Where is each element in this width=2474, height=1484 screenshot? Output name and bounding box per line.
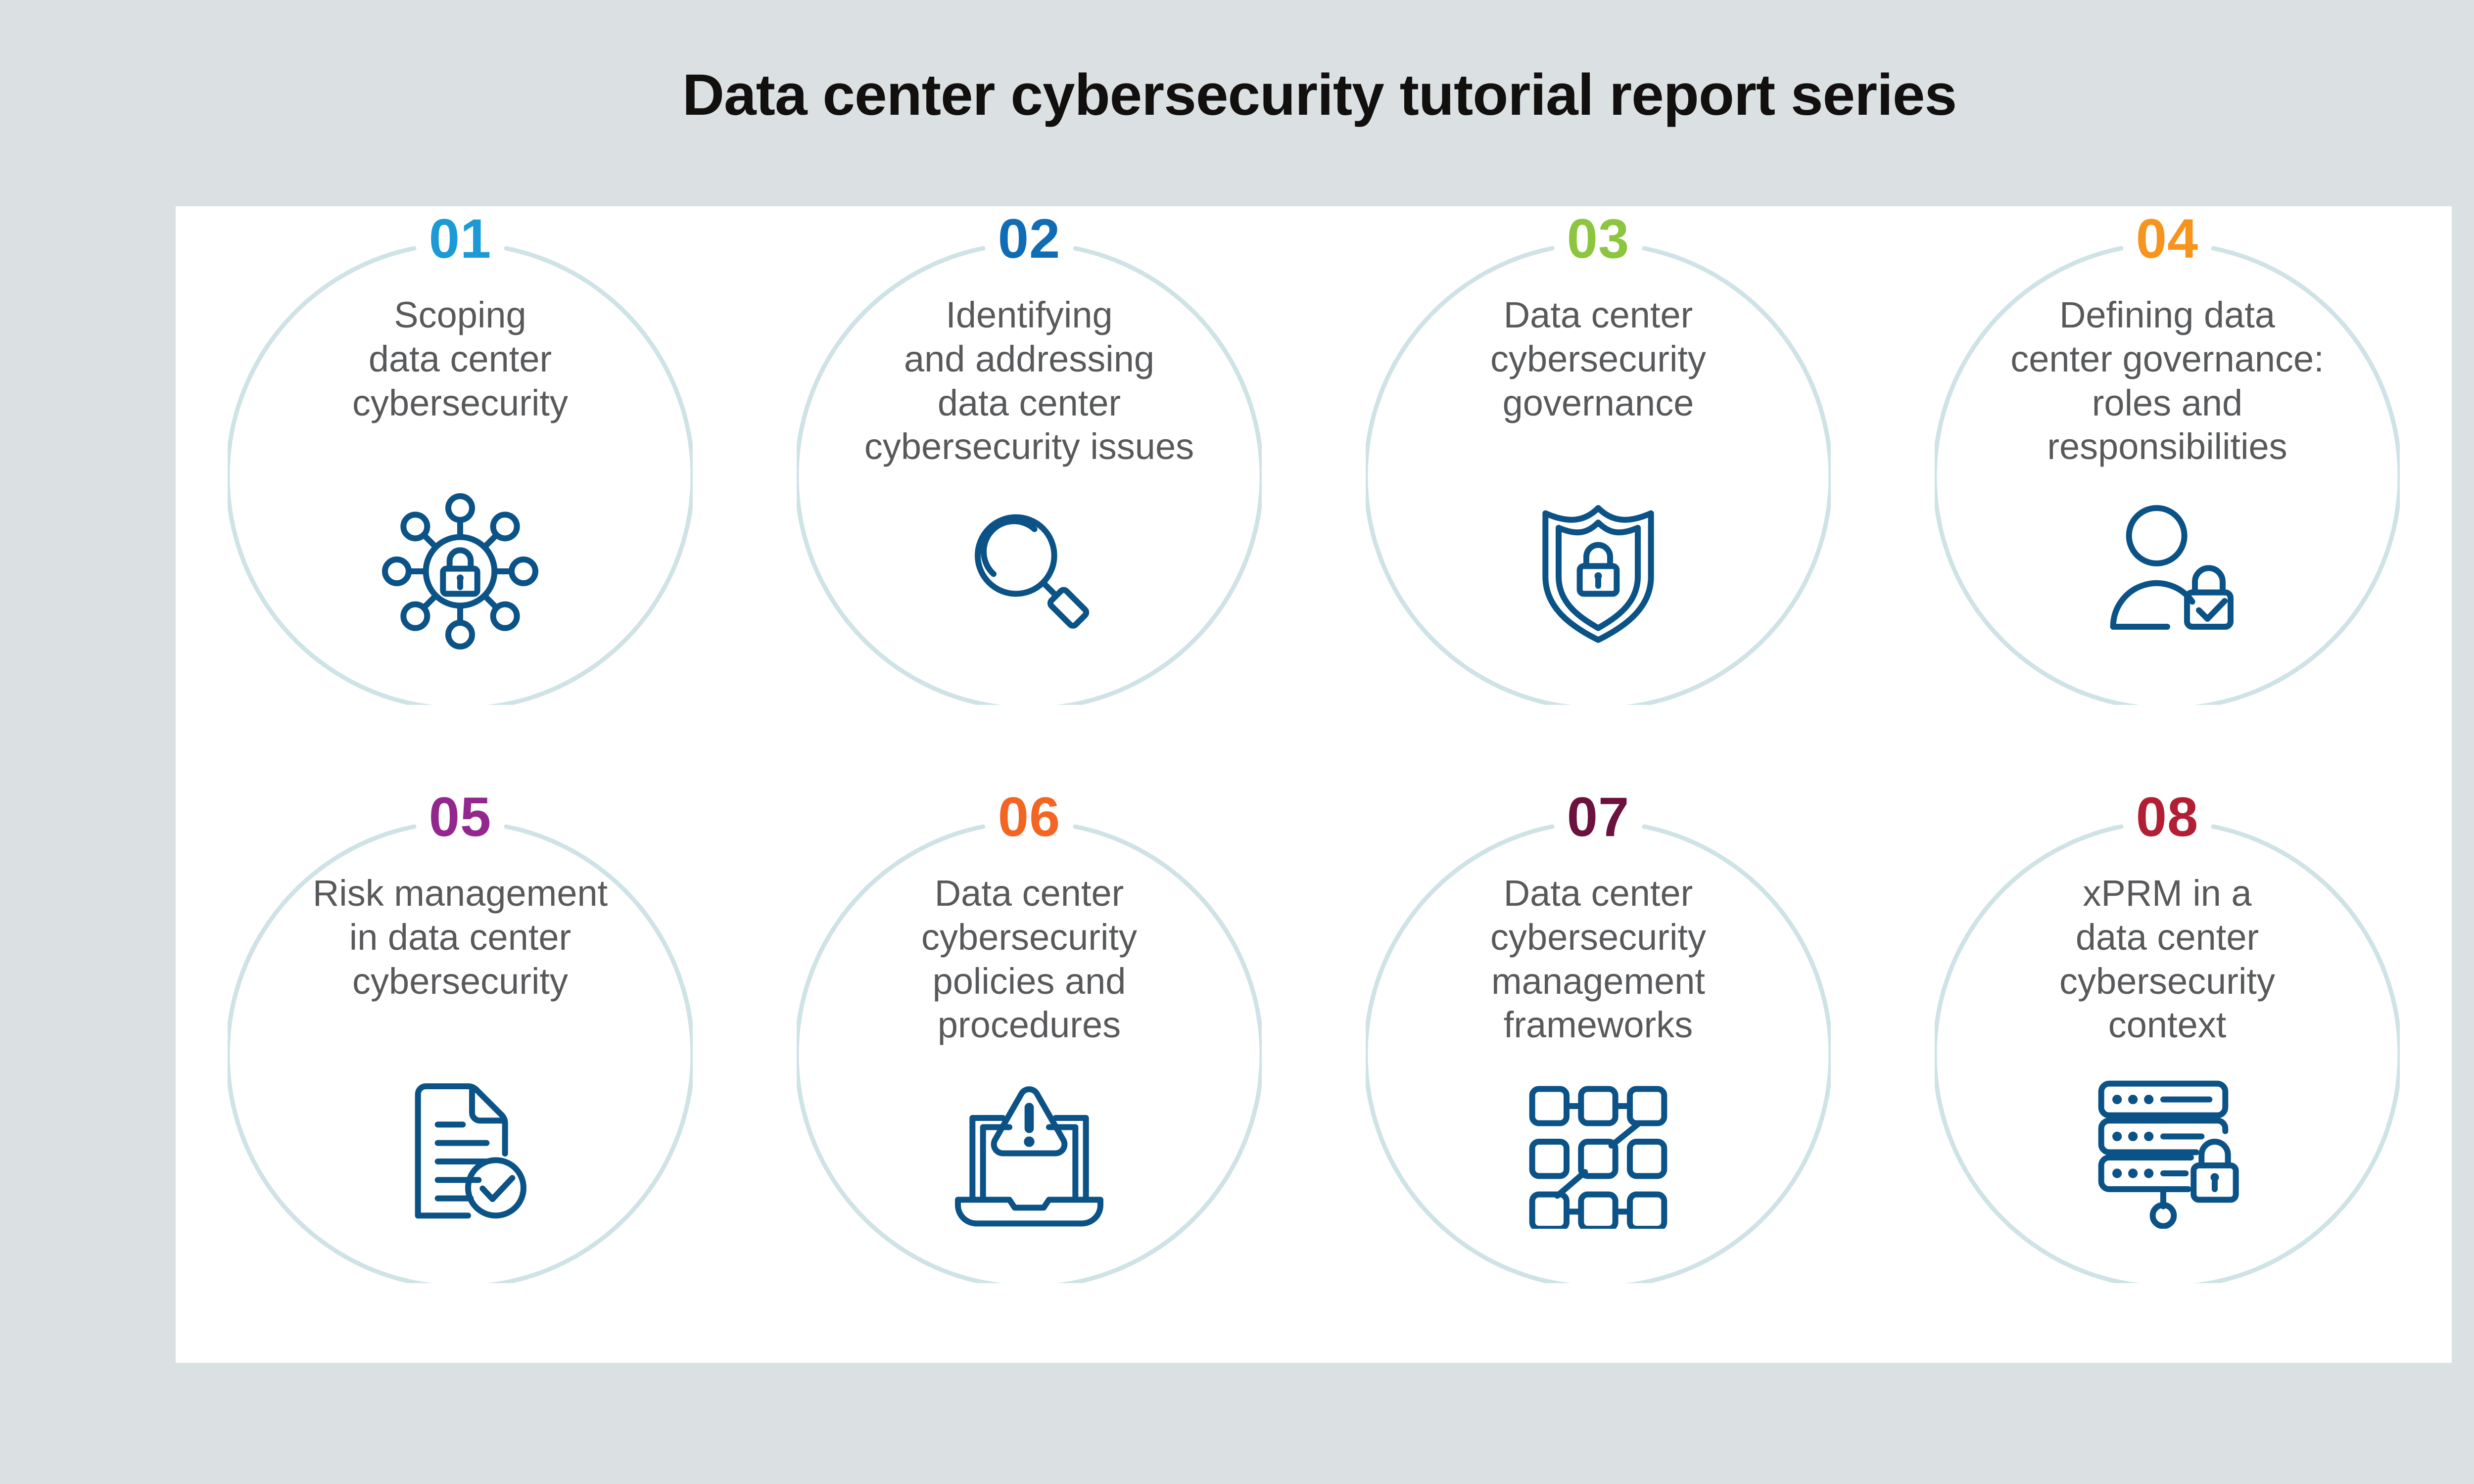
card-number: 08 (1935, 789, 2400, 845)
card-07[interactable]: 07 Data center cybersecurity management … (1314, 785, 1883, 1363)
card-number: 01 (228, 211, 693, 267)
card-number: 06 (797, 789, 1262, 845)
card-circle: 01 Scoping data center cybersecurity (228, 240, 693, 705)
card-number: 03 (1366, 211, 1831, 267)
card-label: Data center cybersecurity governance (1395, 293, 1801, 425)
page-title: Data center cybersecurity tutorial repor… (0, 63, 2474, 128)
user-lock-check-icon (2078, 492, 2256, 650)
card-label: Data center cybersecurity policies and p… (826, 872, 1232, 1047)
card-label: Scoping data center cybersecurity (257, 293, 663, 425)
card-04[interactable]: 04 Defining data center governance: role… (1883, 206, 2452, 785)
card-01[interactable]: 01 Scoping data center cybersecurity (176, 206, 745, 785)
card-circle: 03 Data center cybersecurity governance (1366, 240, 1831, 705)
card-05[interactable]: 05 Risk management in data center cybers… (176, 785, 745, 1363)
card-08[interactable]: 08 xPRM in a data center cybersecurity c… (1883, 785, 2452, 1363)
card-circle: 05 Risk management in data center cybers… (228, 818, 693, 1283)
card-circle: 07 Data center cybersecurity management … (1366, 818, 1831, 1283)
card-label: Risk management in data center cybersecu… (257, 872, 663, 1003)
laptop-warning-icon (940, 1070, 1118, 1229)
network-lock-icon (371, 492, 549, 650)
card-03[interactable]: 03 Data center cybersecurity governance (1314, 206, 1883, 785)
card-label: Identifying and addressing data center c… (826, 293, 1232, 469)
card-02[interactable]: 02 Identifying and addressing data cente… (745, 206, 1314, 785)
card-grid: 01 Scoping data center cybersecurity (176, 206, 2452, 1363)
shield-lock-icon (1509, 492, 1687, 650)
card-circle: 06 Data center cybersecurity policies an… (797, 818, 1262, 1283)
card-number: 02 (797, 211, 1262, 267)
card-circle: 02 Identifying and addressing data cente… (797, 240, 1262, 705)
document-check-icon (371, 1070, 549, 1229)
card-label: Defining data center governance: roles a… (1964, 293, 2370, 469)
magnifying-glass-icon (940, 492, 1118, 650)
card-circle: 04 Defining data center governance: role… (1935, 240, 2400, 705)
node-grid-icon (1509, 1070, 1687, 1229)
infographic-page: Data center cybersecurity tutorial repor… (0, 0, 2474, 1484)
card-circle: 08 xPRM in a data center cybersecurity c… (1935, 818, 2400, 1283)
server-rack-lock-icon (2078, 1070, 2256, 1229)
card-number: 05 (228, 789, 693, 845)
card-label: Data center cybersecurity management fra… (1395, 872, 1801, 1047)
card-06[interactable]: 06 Data center cybersecurity policies an… (745, 785, 1314, 1363)
card-number: 04 (1935, 211, 2400, 267)
card-label: xPRM in a data center cybersecurity cont… (1964, 872, 2370, 1047)
card-number: 07 (1366, 789, 1831, 845)
